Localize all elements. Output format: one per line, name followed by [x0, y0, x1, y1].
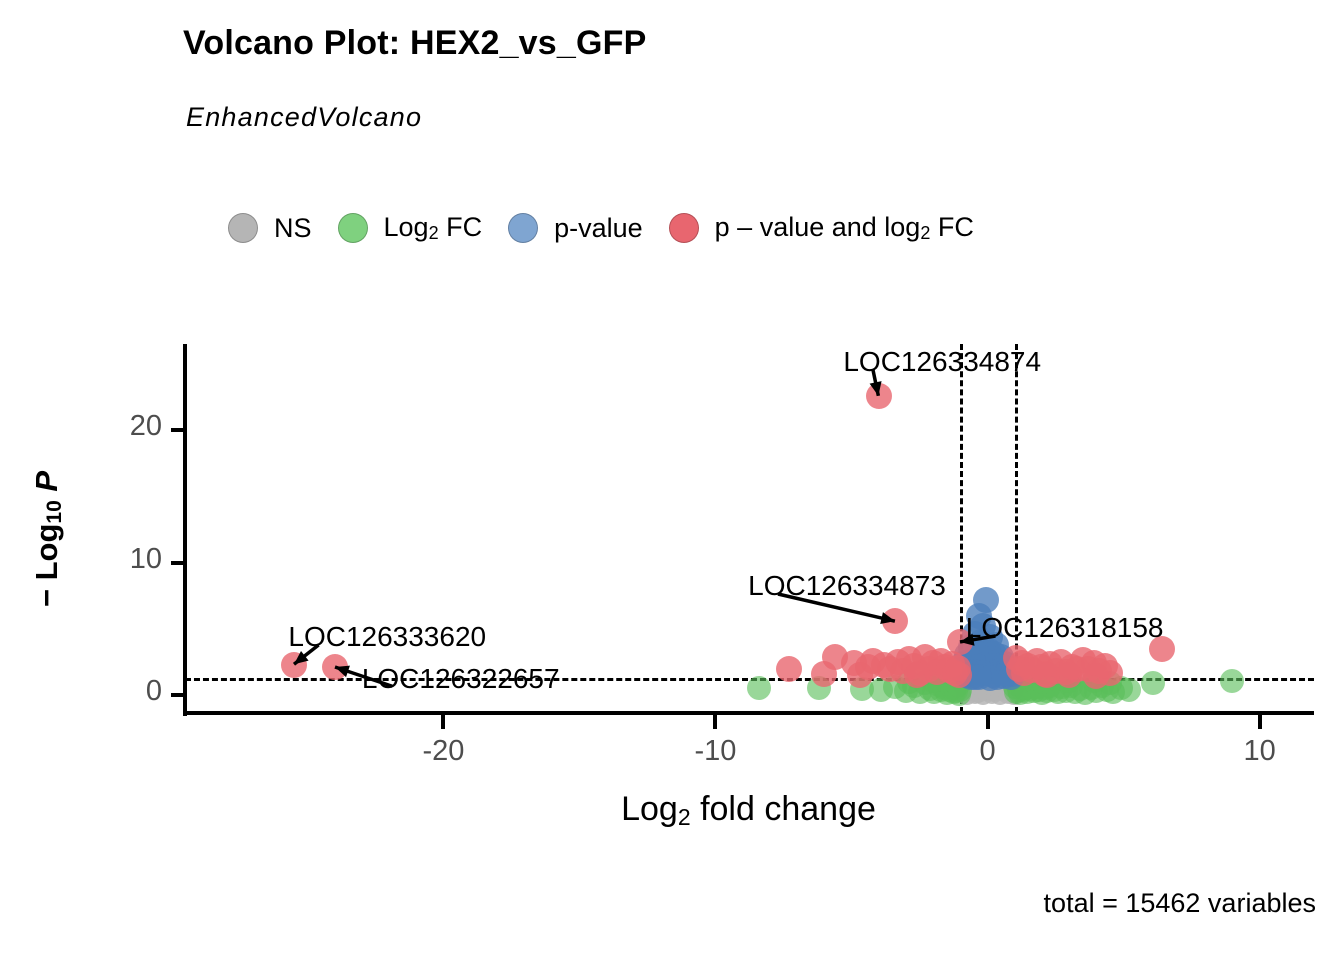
plot-subtitle: EnhancedVolcano	[186, 102, 422, 133]
x-tick-0	[441, 715, 445, 729]
gene-label-arrow-LOC126334873	[764, 580, 909, 635]
legend-swatch-both	[669, 213, 699, 243]
scatter-point	[847, 662, 873, 688]
y-tick-label-0: 0	[146, 675, 162, 708]
x-tick-3	[1258, 715, 1262, 729]
y-tick-2	[171, 428, 185, 432]
x-tick-label-0: -20	[422, 735, 464, 768]
legend-item-ns[interactable]: NS	[228, 213, 312, 243]
y-tick-label-1: 10	[130, 543, 162, 576]
x-tick-label-2: 0	[979, 735, 995, 768]
y-tick-0	[171, 693, 185, 697]
x-axis-title: Log2 fold change	[183, 790, 1314, 831]
x-tick-label-3: 10	[1243, 735, 1275, 768]
legend-swatch-ns	[228, 213, 258, 243]
x-tick-1	[713, 715, 717, 729]
y-tick-1	[171, 561, 185, 565]
legend-label-log2fc: Log2 FC	[384, 214, 483, 242]
gene-label-arrow-LOC126318158	[946, 622, 1009, 656]
scatter-point	[946, 662, 972, 688]
x-axis-line	[183, 711, 1314, 715]
legend-item-log2fc[interactable]: Log2 FC	[338, 213, 483, 243]
scatter-point	[904, 662, 930, 688]
legend-label-pvalue: p-value	[554, 215, 643, 242]
x-tick-label-1: -10	[695, 735, 737, 768]
legend-label-ns: NS	[274, 215, 312, 242]
legend-item-pvalue[interactable]: p-value	[508, 213, 643, 243]
gene-label-arrow-LOC126322657	[321, 653, 406, 700]
total-variables-caption: total = 15462 variables	[1044, 888, 1316, 919]
y-tick-label-2: 20	[130, 410, 162, 443]
scatter-point	[1220, 669, 1244, 693]
scatter-point	[1141, 671, 1165, 695]
legend-swatch-pvalue	[508, 213, 538, 243]
scatter-point	[977, 665, 1003, 691]
scatter-point	[776, 656, 802, 682]
x-tick-2	[986, 715, 990, 729]
scatter-point	[747, 676, 771, 700]
legend: NSLog2 FCp-valuep – value and log2 FC	[228, 204, 1000, 252]
scatter-point	[811, 661, 837, 687]
y-axis-title: − Log10 P	[29, 369, 67, 709]
legend-item-both[interactable]: p – value and log2 FC	[669, 213, 974, 243]
legend-swatch-log2fc	[338, 213, 368, 243]
legend-label-both: p – value and log2 FC	[715, 214, 974, 242]
gene-label-arrow-LOC126334874	[859, 356, 892, 410]
page-title: Volcano Plot: HEX2_vs_GFP	[183, 24, 647, 63]
volcano-plot-figure: Volcano Plot: HEX2_vs_GFP EnhancedVolcan…	[0, 0, 1344, 960]
